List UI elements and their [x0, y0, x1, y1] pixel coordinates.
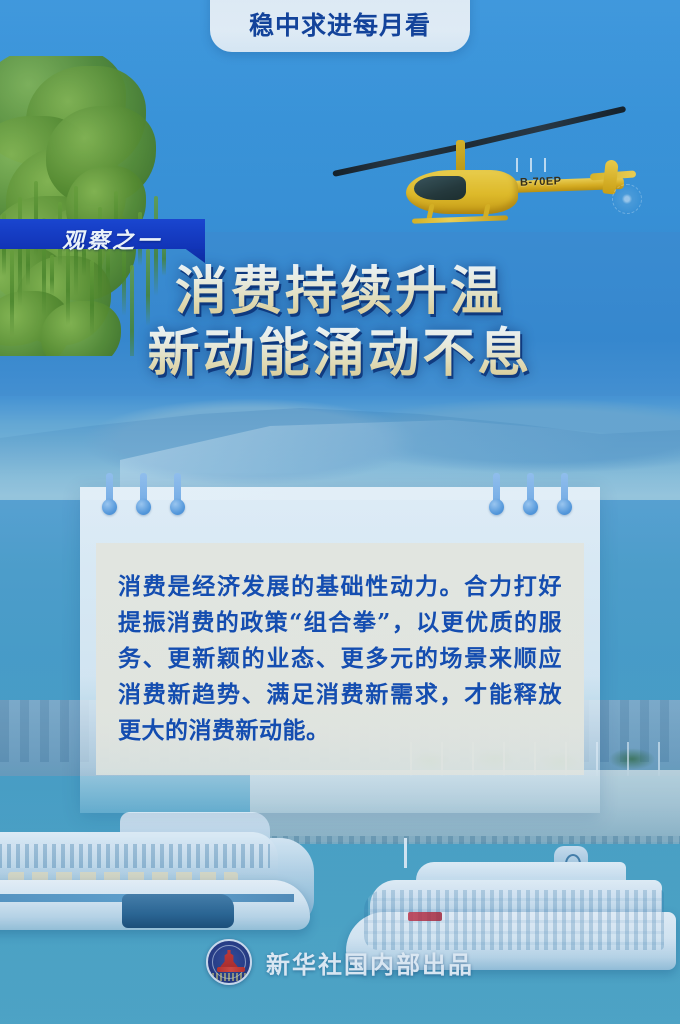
page-title: 消费持续升温 新动能涌动不息 [0, 262, 680, 384]
antenna-icon [516, 158, 518, 172]
yellow-helicopter: B-70EP [398, 118, 648, 238]
poster: B-70EP 稳中求进每月看 观察之一 消费持续升温 新动能涌动不息 [0, 0, 680, 1024]
headline-line-2: 新动能涌动不息 [0, 324, 680, 384]
footer: 新华社国内部出品 [0, 934, 680, 990]
helicopter-registration: B-70EP [520, 175, 562, 188]
series-title-chip[interactable]: 稳中求进每月看 [210, 0, 470, 52]
section-ribbon: 观察之一 [0, 219, 205, 263]
note-card-panel: 消费是经济发展的基础性动力。合力打好提振消费的政策“组合拳”，以更优质的服务、更… [96, 543, 584, 775]
antenna-icon [544, 158, 546, 172]
ring-head [136, 499, 151, 515]
ring-head [557, 499, 572, 515]
binder-ring [170, 473, 184, 523]
ship-banner [408, 912, 442, 921]
binder-ring [557, 473, 571, 523]
ring-head [523, 499, 538, 515]
ribbon-label: 观察之一 [62, 223, 162, 255]
logo-ring-text [208, 973, 250, 981]
logo-base [217, 967, 245, 972]
xinhua-logo-icon [206, 939, 252, 985]
ring-head [170, 499, 185, 515]
rotor-mast [456, 140, 465, 174]
cockpit-window [414, 176, 466, 200]
tug-boat [122, 894, 234, 928]
tail-rotor [612, 184, 642, 214]
note-card: 消费是经济发展的基础性动力。合力打好提振消费的政策“组合拳”，以更优质的服务、更… [80, 487, 600, 813]
binder-rings [80, 473, 600, 543]
ship-mast [404, 838, 407, 868]
antenna-icon [530, 158, 532, 172]
binder-ring [102, 473, 116, 523]
ring-head [102, 499, 117, 515]
ring-head [489, 499, 504, 515]
headline-line-1: 消费持续升温 [0, 262, 680, 322]
binder-ring [489, 473, 503, 523]
binder-ring [523, 473, 537, 523]
series-title-text: 稳中求进每月看 [249, 6, 431, 42]
footer-label: 新华社国内部出品 [266, 945, 474, 980]
binder-ring [136, 473, 150, 523]
note-card-body: 消费是经济发展的基础性动力。合力打好提振消费的政策“组合拳”，以更优质的服务、更… [118, 569, 562, 749]
ship-windows [0, 844, 270, 868]
